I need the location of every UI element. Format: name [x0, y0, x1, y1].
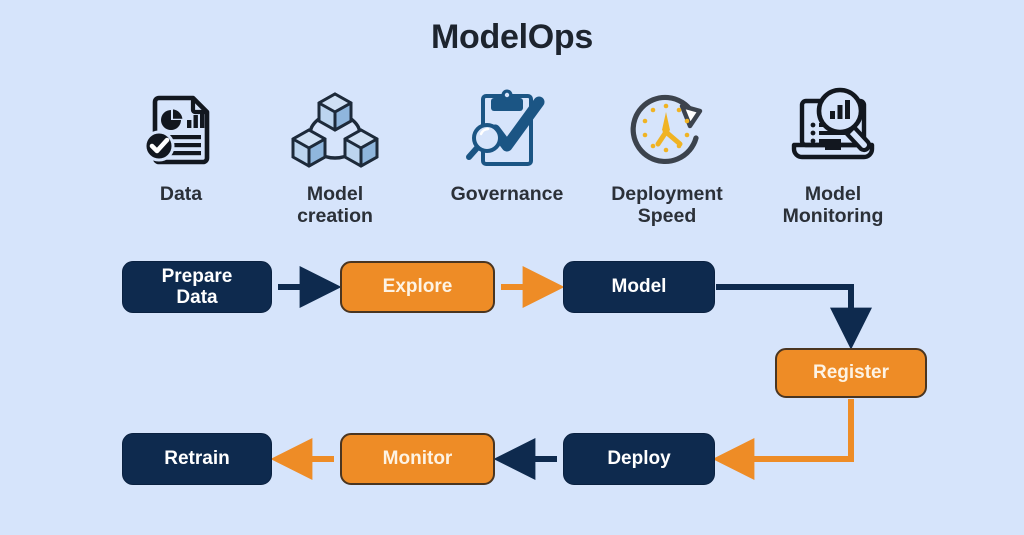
- capability-label: Deployment Speed: [592, 184, 742, 228]
- flow-node-label-line1: Monitor: [383, 448, 453, 469]
- capability-label-line1: Deployment: [611, 183, 723, 205]
- capability-model-creation: Model creation: [260, 82, 410, 228]
- flow-node-label-line1: Prepare: [162, 266, 233, 287]
- flow-node-label-line1: Deploy: [607, 448, 670, 469]
- flow-node-label: Register: [813, 362, 889, 383]
- flow-node-label-line2: Data: [162, 287, 233, 308]
- capability-governance: Governance: [432, 82, 582, 206]
- capability-label-line2: Monitoring: [758, 206, 908, 228]
- flow-node-explore[interactable]: Explore: [340, 261, 495, 313]
- capability-label-line2: creation: [260, 206, 410, 228]
- capability-label-line2: Speed: [592, 206, 742, 228]
- flow-node-label-line1: Register: [813, 362, 889, 383]
- document-chart-check-icon: [106, 82, 256, 178]
- capability-label-line1: Model: [805, 183, 861, 205]
- flow-node-deploy[interactable]: Deploy: [563, 433, 715, 485]
- flow-node-register[interactable]: Register: [775, 348, 927, 398]
- connected-cubes-icon: [260, 82, 410, 178]
- capability-model-monitoring: Model Monitoring: [758, 82, 908, 228]
- laptop-chart-magnifier-icon: [758, 82, 908, 178]
- clock-refresh-icon: [592, 82, 742, 178]
- capability-label-line1: Data: [160, 183, 202, 205]
- flow-node-label-line1: Retrain: [164, 448, 229, 469]
- flow-node-label: Retrain: [164, 448, 229, 469]
- flow-node-prepare-data[interactable]: Prepare Data: [122, 261, 272, 313]
- flow-node-label: Prepare Data: [162, 266, 233, 309]
- edge-register-to-deploy: [722, 399, 851, 459]
- flow-node-label: Deploy: [607, 448, 670, 469]
- page-title: ModelOps: [0, 18, 1024, 57]
- capability-label: Model Monitoring: [758, 184, 908, 228]
- flow-node-label-line1: Explore: [383, 276, 453, 297]
- capability-label-line1: Governance: [451, 183, 564, 205]
- flow-node-label: Monitor: [383, 448, 453, 469]
- capability-data: Data: [106, 82, 256, 206]
- flow-node-label: Explore: [383, 276, 453, 297]
- capability-label: Data: [106, 184, 256, 206]
- flow-node-retrain[interactable]: Retrain: [122, 433, 272, 485]
- capability-label-line1: Model: [307, 183, 363, 205]
- clipboard-check-magnifier-icon: [432, 82, 582, 178]
- flow-node-model[interactable]: Model: [563, 261, 715, 313]
- flow-node-monitor[interactable]: Monitor: [340, 433, 495, 485]
- flow-node-label-line1: Model: [612, 276, 667, 297]
- capability-deployment-speed: Deployment Speed: [592, 82, 742, 228]
- capability-icon-row: Data: [112, 82, 922, 242]
- modelops-diagram: ModelOps: [0, 0, 1024, 535]
- capability-label: Governance: [432, 184, 582, 206]
- capability-label: Model creation: [260, 184, 410, 228]
- edge-model-to-register: [716, 287, 851, 340]
- flow-node-label: Model: [612, 276, 667, 297]
